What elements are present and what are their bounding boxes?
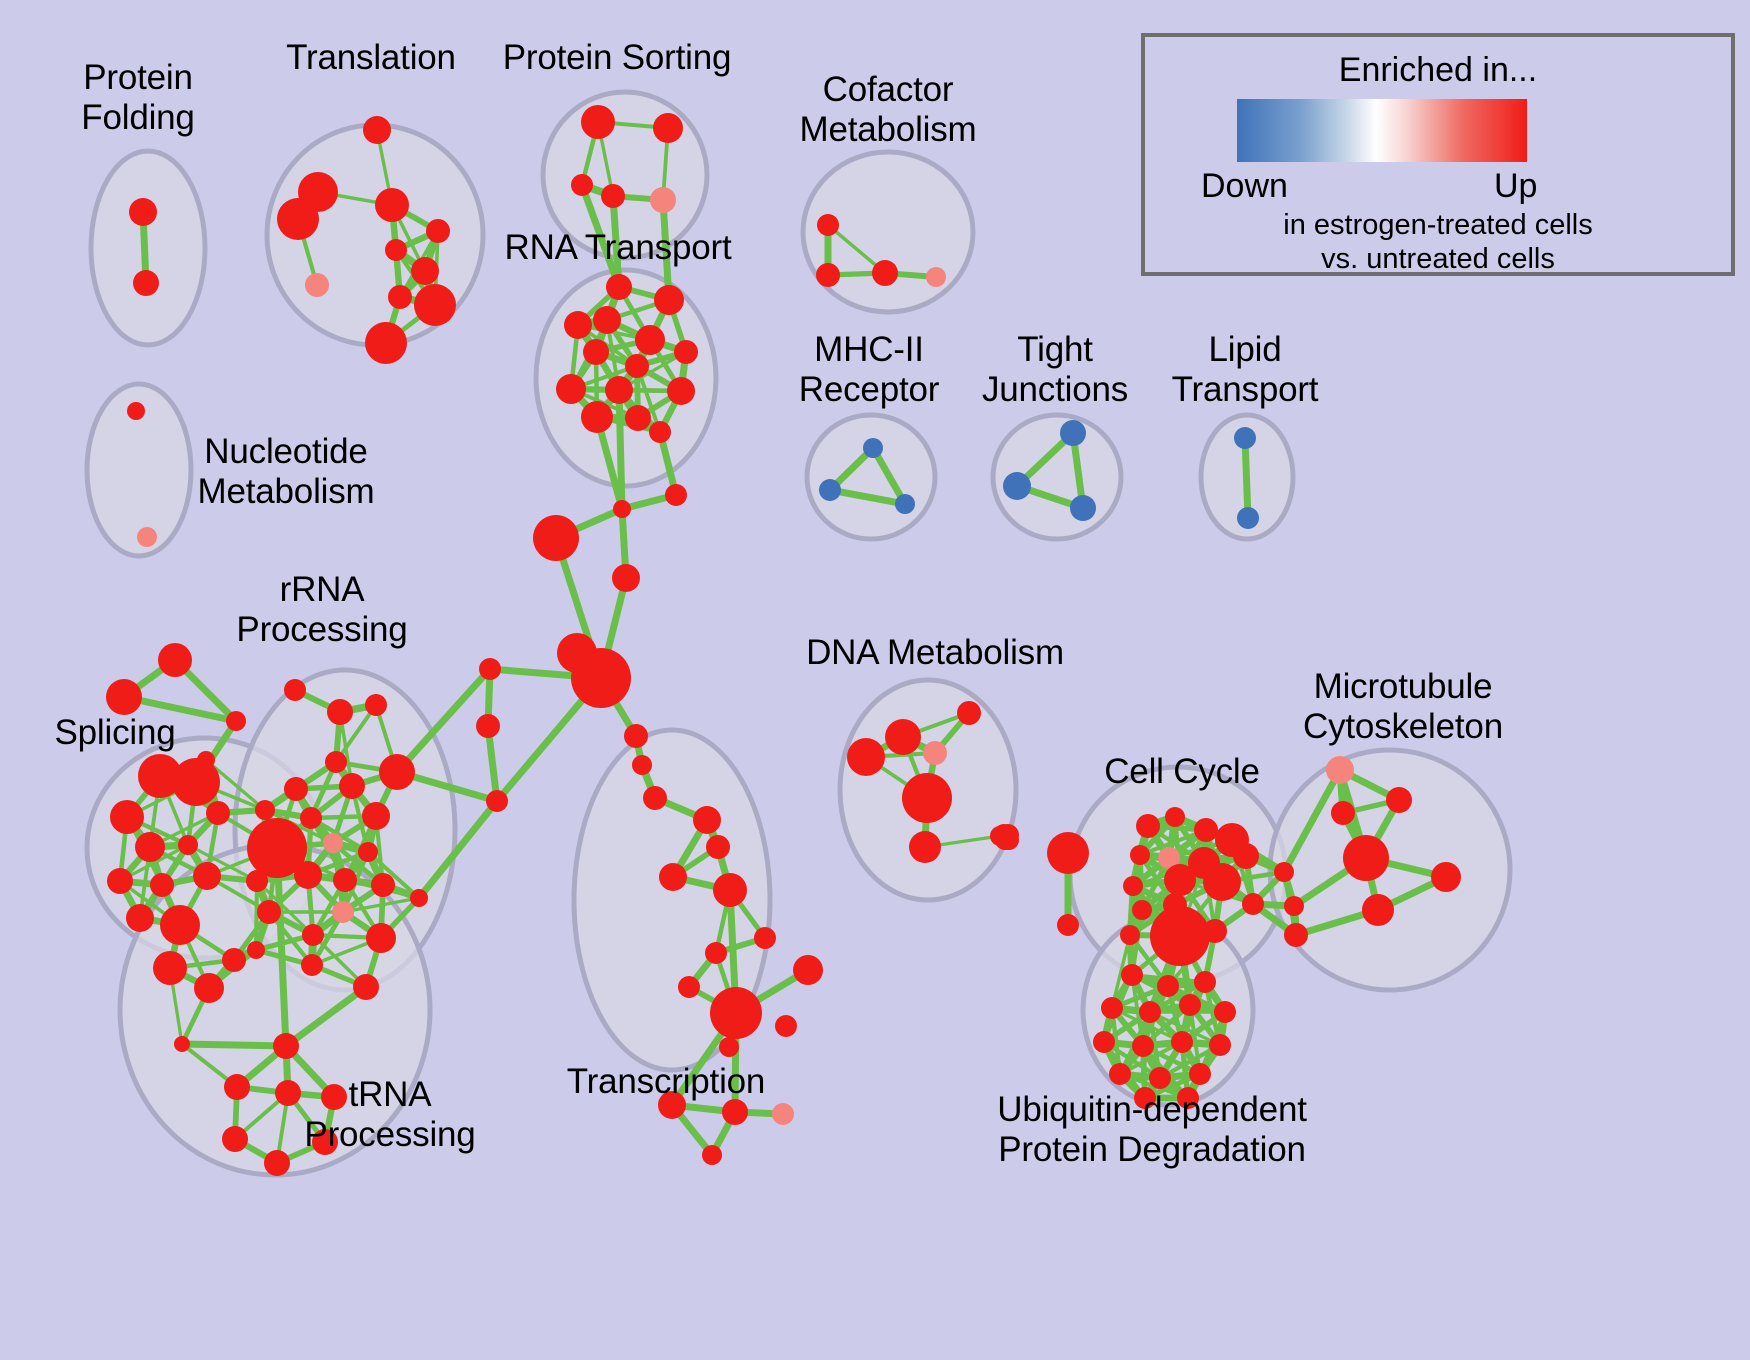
cluster-label-rrna-processing: rRNA Processing bbox=[236, 570, 407, 650]
network-node[interactable] bbox=[702, 1145, 722, 1165]
cluster-label-mhc-ii-receptor: MHC-II Receptor bbox=[799, 330, 939, 410]
network-node[interactable] bbox=[206, 801, 230, 825]
cluster-label-protein-sorting: Protein Sorting bbox=[503, 38, 732, 78]
legend-caption-line1: in estrogen-treated cells bbox=[1145, 209, 1731, 242]
network-node[interactable] bbox=[135, 832, 165, 862]
network-node[interactable] bbox=[174, 1036, 190, 1052]
network-node[interactable] bbox=[533, 515, 579, 561]
network-node[interactable] bbox=[107, 868, 133, 894]
network-node[interactable] bbox=[665, 484, 687, 506]
network-node[interactable] bbox=[1139, 1001, 1161, 1023]
network-node[interactable] bbox=[705, 942, 727, 964]
network-node[interactable] bbox=[693, 806, 721, 834]
cluster-label-transcription: Transcription bbox=[567, 1062, 765, 1102]
network-node[interactable] bbox=[358, 842, 378, 862]
network-node[interactable] bbox=[613, 500, 631, 518]
network-node[interactable] bbox=[411, 257, 439, 285]
cluster-label-trna-processing: tRNA Processing bbox=[304, 1075, 475, 1155]
network-node[interactable] bbox=[643, 786, 667, 810]
network-node[interactable] bbox=[999, 830, 1019, 850]
network-node[interactable] bbox=[1047, 832, 1089, 874]
network-node[interactable] bbox=[388, 285, 412, 309]
network-node[interactable] bbox=[1136, 814, 1160, 838]
network-node[interactable] bbox=[710, 987, 762, 1039]
cluster-label-protein-folding: Protein Folding bbox=[81, 58, 194, 138]
network-node[interactable] bbox=[126, 904, 154, 932]
network-node[interactable] bbox=[1121, 964, 1143, 986]
network-node[interactable] bbox=[1120, 925, 1140, 945]
network-node[interactable] bbox=[1179, 994, 1201, 1016]
network-node[interactable] bbox=[1237, 507, 1259, 529]
network-node[interactable] bbox=[571, 648, 631, 708]
network-node[interactable] bbox=[571, 174, 593, 196]
network-node[interactable] bbox=[1132, 900, 1152, 920]
network-node[interactable] bbox=[775, 1015, 797, 1037]
network-node[interactable] bbox=[106, 679, 142, 715]
network-node[interactable] bbox=[1203, 919, 1227, 943]
network-node[interactable] bbox=[339, 773, 365, 799]
network-node[interactable] bbox=[284, 777, 308, 801]
network-node[interactable] bbox=[1003, 472, 1031, 500]
network-node[interactable] bbox=[365, 694, 387, 716]
cluster-hull-mhc-ii-receptor bbox=[807, 415, 935, 539]
network-node[interactable] bbox=[847, 738, 885, 776]
network-node[interactable] bbox=[649, 421, 671, 443]
cluster-label-tight-junctions: Tight Junctions bbox=[982, 330, 1128, 410]
network-node[interactable] bbox=[754, 927, 776, 949]
cluster-label-microtubule-cytoskeleton: Microtubule Cytoskeleton bbox=[1303, 667, 1503, 747]
network-node[interactable] bbox=[650, 187, 676, 213]
network-node[interactable] bbox=[926, 267, 946, 287]
network-node[interactable] bbox=[300, 807, 322, 829]
network-node[interactable] bbox=[479, 658, 501, 680]
network-node[interactable] bbox=[1165, 807, 1185, 827]
network-node[interactable] bbox=[127, 402, 145, 420]
network-node[interactable] bbox=[1284, 923, 1308, 947]
network-node[interactable] bbox=[706, 835, 730, 859]
network-node[interactable] bbox=[895, 494, 915, 514]
network-node[interactable] bbox=[362, 802, 390, 830]
network-node[interactable] bbox=[385, 239, 407, 261]
network-node[interactable] bbox=[327, 699, 353, 725]
legend-title: Enriched in... bbox=[1145, 51, 1731, 90]
network-node[interactable] bbox=[1123, 876, 1143, 896]
network-node[interactable] bbox=[1093, 1031, 1115, 1053]
cluster-label-rna-transport: RNA Transport bbox=[505, 228, 732, 268]
network-node[interactable] bbox=[1209, 1034, 1231, 1056]
network-node[interactable] bbox=[612, 564, 640, 592]
network-node[interactable] bbox=[581, 105, 615, 139]
network-node[interactable] bbox=[366, 923, 396, 953]
network-node[interactable] bbox=[624, 724, 648, 748]
network-node[interactable] bbox=[226, 711, 246, 731]
network-node[interactable] bbox=[273, 1033, 299, 1059]
network-node[interactable] bbox=[667, 377, 695, 405]
network-node[interactable] bbox=[137, 527, 157, 547]
network-node[interactable] bbox=[564, 311, 592, 339]
network-node[interactable] bbox=[1109, 1063, 1131, 1085]
network-node[interactable] bbox=[332, 901, 354, 923]
network-node[interactable] bbox=[601, 184, 625, 208]
network-node[interactable] bbox=[678, 976, 700, 998]
network-node[interactable] bbox=[486, 790, 508, 812]
network-node[interactable] bbox=[902, 773, 952, 823]
network-node[interactable] bbox=[1157, 975, 1179, 997]
network-node[interactable] bbox=[1234, 427, 1256, 449]
legend-color-gradient bbox=[1237, 99, 1527, 162]
network-node[interactable] bbox=[222, 948, 246, 972]
network-node[interactable] bbox=[1274, 862, 1294, 882]
network-node[interactable] bbox=[1362, 894, 1394, 926]
network-node[interactable] bbox=[353, 974, 379, 1000]
network-node[interactable] bbox=[325, 751, 347, 773]
network-node[interactable] bbox=[1149, 1067, 1171, 1089]
network-node[interactable] bbox=[222, 1126, 248, 1152]
network-node[interactable] bbox=[246, 870, 268, 892]
network-node[interactable] bbox=[301, 954, 323, 976]
network-node[interactable] bbox=[194, 973, 224, 1003]
legend-low-label: Down bbox=[1201, 167, 1288, 206]
network-node[interactable] bbox=[625, 405, 651, 431]
network-node[interactable] bbox=[674, 340, 698, 364]
network-node[interactable] bbox=[414, 284, 456, 326]
network-node[interactable] bbox=[371, 873, 395, 897]
network-node[interactable] bbox=[1233, 843, 1259, 869]
network-node[interactable] bbox=[635, 325, 665, 355]
network-node[interactable] bbox=[178, 835, 198, 855]
network-node[interactable] bbox=[653, 113, 683, 143]
network-node[interactable] bbox=[284, 679, 306, 701]
cluster-label-splicing: Splicing bbox=[55, 713, 176, 753]
legend-box: Enriched in... Down Up in estrogen-treat… bbox=[1141, 33, 1735, 276]
network-node[interactable] bbox=[172, 758, 220, 806]
network-node[interactable] bbox=[957, 701, 981, 725]
network-node[interactable] bbox=[816, 263, 840, 287]
network-node[interactable] bbox=[277, 198, 319, 240]
network-node[interactable] bbox=[923, 741, 947, 765]
network-node[interactable] bbox=[1203, 863, 1241, 901]
network-node[interactable] bbox=[1070, 495, 1096, 521]
network-node[interactable] bbox=[772, 1103, 794, 1125]
network-node[interactable] bbox=[255, 800, 275, 820]
network-node[interactable] bbox=[110, 800, 144, 834]
cluster-label-nucleotide-metabolism: Nucleotide Metabolism bbox=[198, 432, 375, 512]
network-node[interactable] bbox=[129, 198, 157, 226]
network-node[interactable] bbox=[581, 401, 613, 433]
cluster-label-cofactor-metabolism: Cofactor Metabolism bbox=[800, 70, 977, 150]
network-node[interactable] bbox=[722, 1099, 748, 1125]
network-node[interactable] bbox=[817, 214, 839, 236]
legend-high-label: Up bbox=[1494, 167, 1537, 206]
network-node[interactable] bbox=[379, 754, 415, 790]
network-node[interactable] bbox=[1150, 906, 1210, 966]
network-node[interactable] bbox=[556, 374, 586, 404]
network-node[interactable] bbox=[632, 755, 652, 775]
network-node[interactable] bbox=[713, 873, 747, 907]
network-node[interactable] bbox=[305, 273, 329, 297]
network-node[interactable] bbox=[133, 270, 159, 296]
network-node[interactable] bbox=[1331, 801, 1355, 825]
network-node[interactable] bbox=[247, 941, 265, 959]
network-node[interactable] bbox=[606, 274, 632, 300]
network-node[interactable] bbox=[193, 862, 221, 890]
network-node[interactable] bbox=[264, 1150, 290, 1176]
enrichment-map-figure: Protein FoldingTranslationProtein Sortin… bbox=[0, 0, 1750, 1360]
network-node[interactable] bbox=[375, 188, 409, 222]
network-node[interactable] bbox=[1242, 893, 1264, 915]
network-node[interactable] bbox=[863, 438, 883, 458]
cluster-label-lipid-transport: Lipid Transport bbox=[1172, 330, 1319, 410]
network-node[interactable] bbox=[1431, 862, 1461, 892]
network-node[interactable] bbox=[1214, 1001, 1236, 1023]
cluster-label-dna-metabolism: DNA Metabolism bbox=[806, 633, 1064, 673]
cluster-label-translation: Translation bbox=[286, 38, 456, 78]
network-node[interactable] bbox=[1130, 845, 1150, 865]
network-node[interactable] bbox=[257, 900, 281, 924]
network-node[interactable] bbox=[1164, 864, 1196, 896]
network-node[interactable] bbox=[593, 306, 621, 334]
network-node[interactable] bbox=[1189, 1063, 1211, 1085]
network-node[interactable] bbox=[625, 354, 649, 378]
network-node[interactable] bbox=[1386, 787, 1412, 813]
network-node[interactable] bbox=[153, 951, 187, 985]
network-node[interactable] bbox=[819, 479, 841, 501]
network-node[interactable] bbox=[158, 643, 192, 677]
network-edge bbox=[1245, 438, 1248, 518]
network-node[interactable] bbox=[302, 924, 324, 946]
network-node[interactable] bbox=[160, 905, 200, 945]
network-node[interactable] bbox=[605, 376, 633, 404]
network-node[interactable] bbox=[909, 831, 941, 863]
network-edge bbox=[182, 1044, 286, 1046]
network-node[interactable] bbox=[426, 219, 450, 243]
network-node[interactable] bbox=[1194, 818, 1218, 842]
network-node[interactable] bbox=[1343, 835, 1389, 881]
legend-caption-line2: vs. untreated cells bbox=[1145, 243, 1731, 276]
network-node[interactable] bbox=[1284, 896, 1304, 916]
network-node[interactable] bbox=[1326, 756, 1354, 784]
network-node[interactable] bbox=[1132, 1035, 1154, 1057]
cluster-hull-microtubule-cytoskeleton bbox=[1270, 750, 1510, 990]
network-node[interactable] bbox=[1194, 971, 1216, 993]
network-node[interactable] bbox=[365, 322, 407, 364]
network-node[interactable] bbox=[793, 955, 823, 985]
network-node[interactable] bbox=[659, 863, 687, 891]
network-node[interactable] bbox=[275, 1080, 301, 1106]
network-node[interactable] bbox=[654, 285, 684, 315]
network-node[interactable] bbox=[1101, 997, 1123, 1019]
cluster-label-ubiquitin-protein-degradation: Ubiquitin-dependent Protein Degradation bbox=[997, 1090, 1307, 1170]
network-node[interactable] bbox=[885, 719, 921, 755]
cluster-label-cell-cycle: Cell Cycle bbox=[1104, 752, 1260, 792]
network-node[interactable] bbox=[1057, 914, 1079, 936]
network-node[interactable] bbox=[1171, 1031, 1193, 1053]
network-node[interactable] bbox=[294, 861, 322, 889]
network-node[interactable] bbox=[150, 873, 174, 897]
network-node[interactable] bbox=[323, 833, 343, 853]
network-node[interactable] bbox=[363, 116, 391, 144]
network-node[interactable] bbox=[410, 889, 428, 907]
network-node[interactable] bbox=[872, 260, 898, 286]
network-node[interactable] bbox=[476, 714, 500, 738]
network-node[interactable] bbox=[719, 1037, 739, 1057]
network-node[interactable] bbox=[224, 1074, 250, 1100]
network-node[interactable] bbox=[1060, 420, 1086, 446]
network-node[interactable] bbox=[333, 868, 357, 892]
network-node[interactable] bbox=[583, 339, 609, 365]
